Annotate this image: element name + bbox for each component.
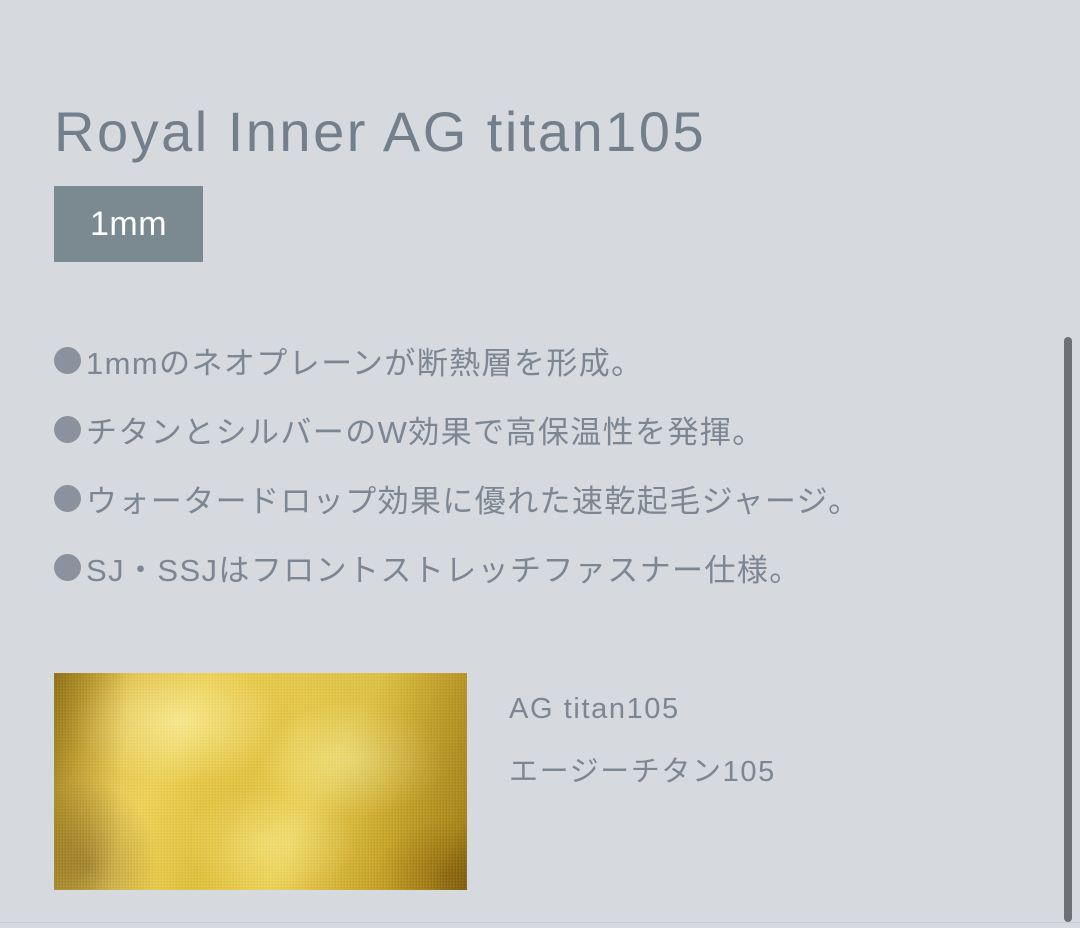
page-title: Royal Inner AG titan105 [54,94,706,170]
scrollbar-thumb[interactable] [1064,337,1072,922]
product-detail-page: Royal Inner AG titan105 1mm 1mmのネオプレーンが断… [0,0,1080,928]
list-item: チタンとシルバーのW効果で高保温性を発揮。 [54,395,1014,464]
bullet-dot-icon [54,485,81,512]
feature-text: チタンとシルバーのW効果で高保温性を発揮。 [86,407,765,452]
color-name-group: AG titan105 エージーチタン105 [509,692,776,789]
color-name-en: AG titan105 [509,692,776,726]
swatch-sheen-overlay [54,673,467,890]
list-item: SJ・SSJはフロントストレッチファスナー仕様。 [54,533,1014,602]
bullet-dot-icon [54,416,81,443]
bottom-divider [0,922,1080,923]
list-item: 1mmのネオプレーンが断熱層を形成。 [54,326,1014,395]
feature-list: 1mmのネオプレーンが断熱層を形成。 チタンとシルバーのW効果で高保温性を発揮。… [54,326,1014,602]
bullet-dot-icon [54,554,81,581]
thickness-badge: 1mm [54,186,203,262]
color-swatch-image [54,673,467,890]
bullet-dot-icon [54,347,81,374]
list-item: ウォータードロップ効果に優れた速乾起毛ジャージ。 [54,464,1014,533]
color-name-ja: エージーチタン105 [509,755,776,789]
scrollbar-track[interactable] [1064,0,1080,928]
feature-text: 1mmのネオプレーンが断熱層を形成。 [86,338,644,383]
feature-text: SJ・SSJはフロントストレッチファスナー仕様。 [86,545,802,590]
color-swatch-block [54,673,467,890]
feature-text: ウォータードロップ効果に優れた速乾起毛ジャージ。 [86,476,861,521]
